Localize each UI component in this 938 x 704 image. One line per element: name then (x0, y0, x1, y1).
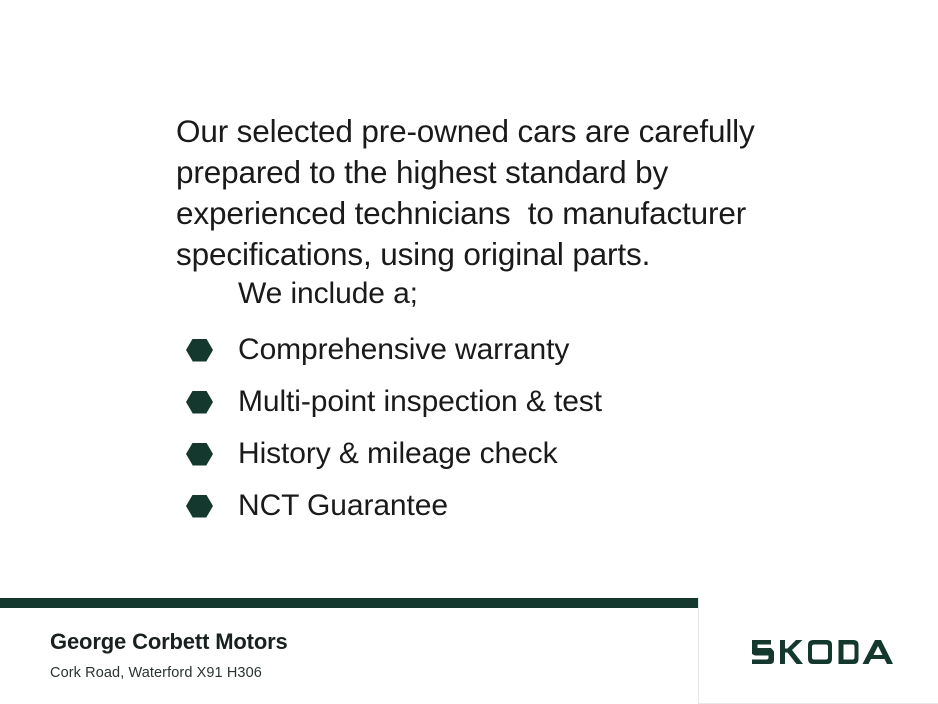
benefit-label: Comprehensive warranty (238, 333, 569, 367)
include-block: We include a; Comprehensive warranty Mul… (186, 272, 806, 532)
hexagon-bullet-icon (186, 495, 213, 518)
headline-text: Our selected pre-owned cars are carefull… (176, 111, 796, 275)
benefit-label: Multi-point inspection & test (238, 385, 602, 419)
list-item: History & mileage check (186, 428, 806, 480)
benefit-label: NCT Guarantee (238, 489, 448, 523)
dealer-address: Cork Road, Waterford X91 H306 (50, 663, 262, 683)
skoda-wordmark-icon (751, 636, 894, 664)
list-item: Multi-point inspection & test (186, 376, 806, 428)
include-lead-text: We include a; (238, 272, 806, 316)
list-item: NCT Guarantee (186, 480, 806, 532)
promo-slide: Our selected pre-owned cars are carefull… (0, 0, 938, 704)
benefits-list: Comprehensive warranty Multi-point inspe… (186, 324, 806, 532)
benefit-label: History & mileage check (238, 437, 557, 471)
dealer-name: George Corbett Motors (50, 628, 288, 656)
list-item: Comprehensive warranty (186, 324, 806, 376)
brand-panel (698, 598, 938, 704)
hexagon-bullet-icon (186, 391, 213, 414)
hexagon-bullet-icon (186, 339, 213, 362)
footer: George Corbett Motors Cork Road, Waterfo… (0, 608, 938, 704)
hexagon-bullet-icon (186, 443, 213, 466)
